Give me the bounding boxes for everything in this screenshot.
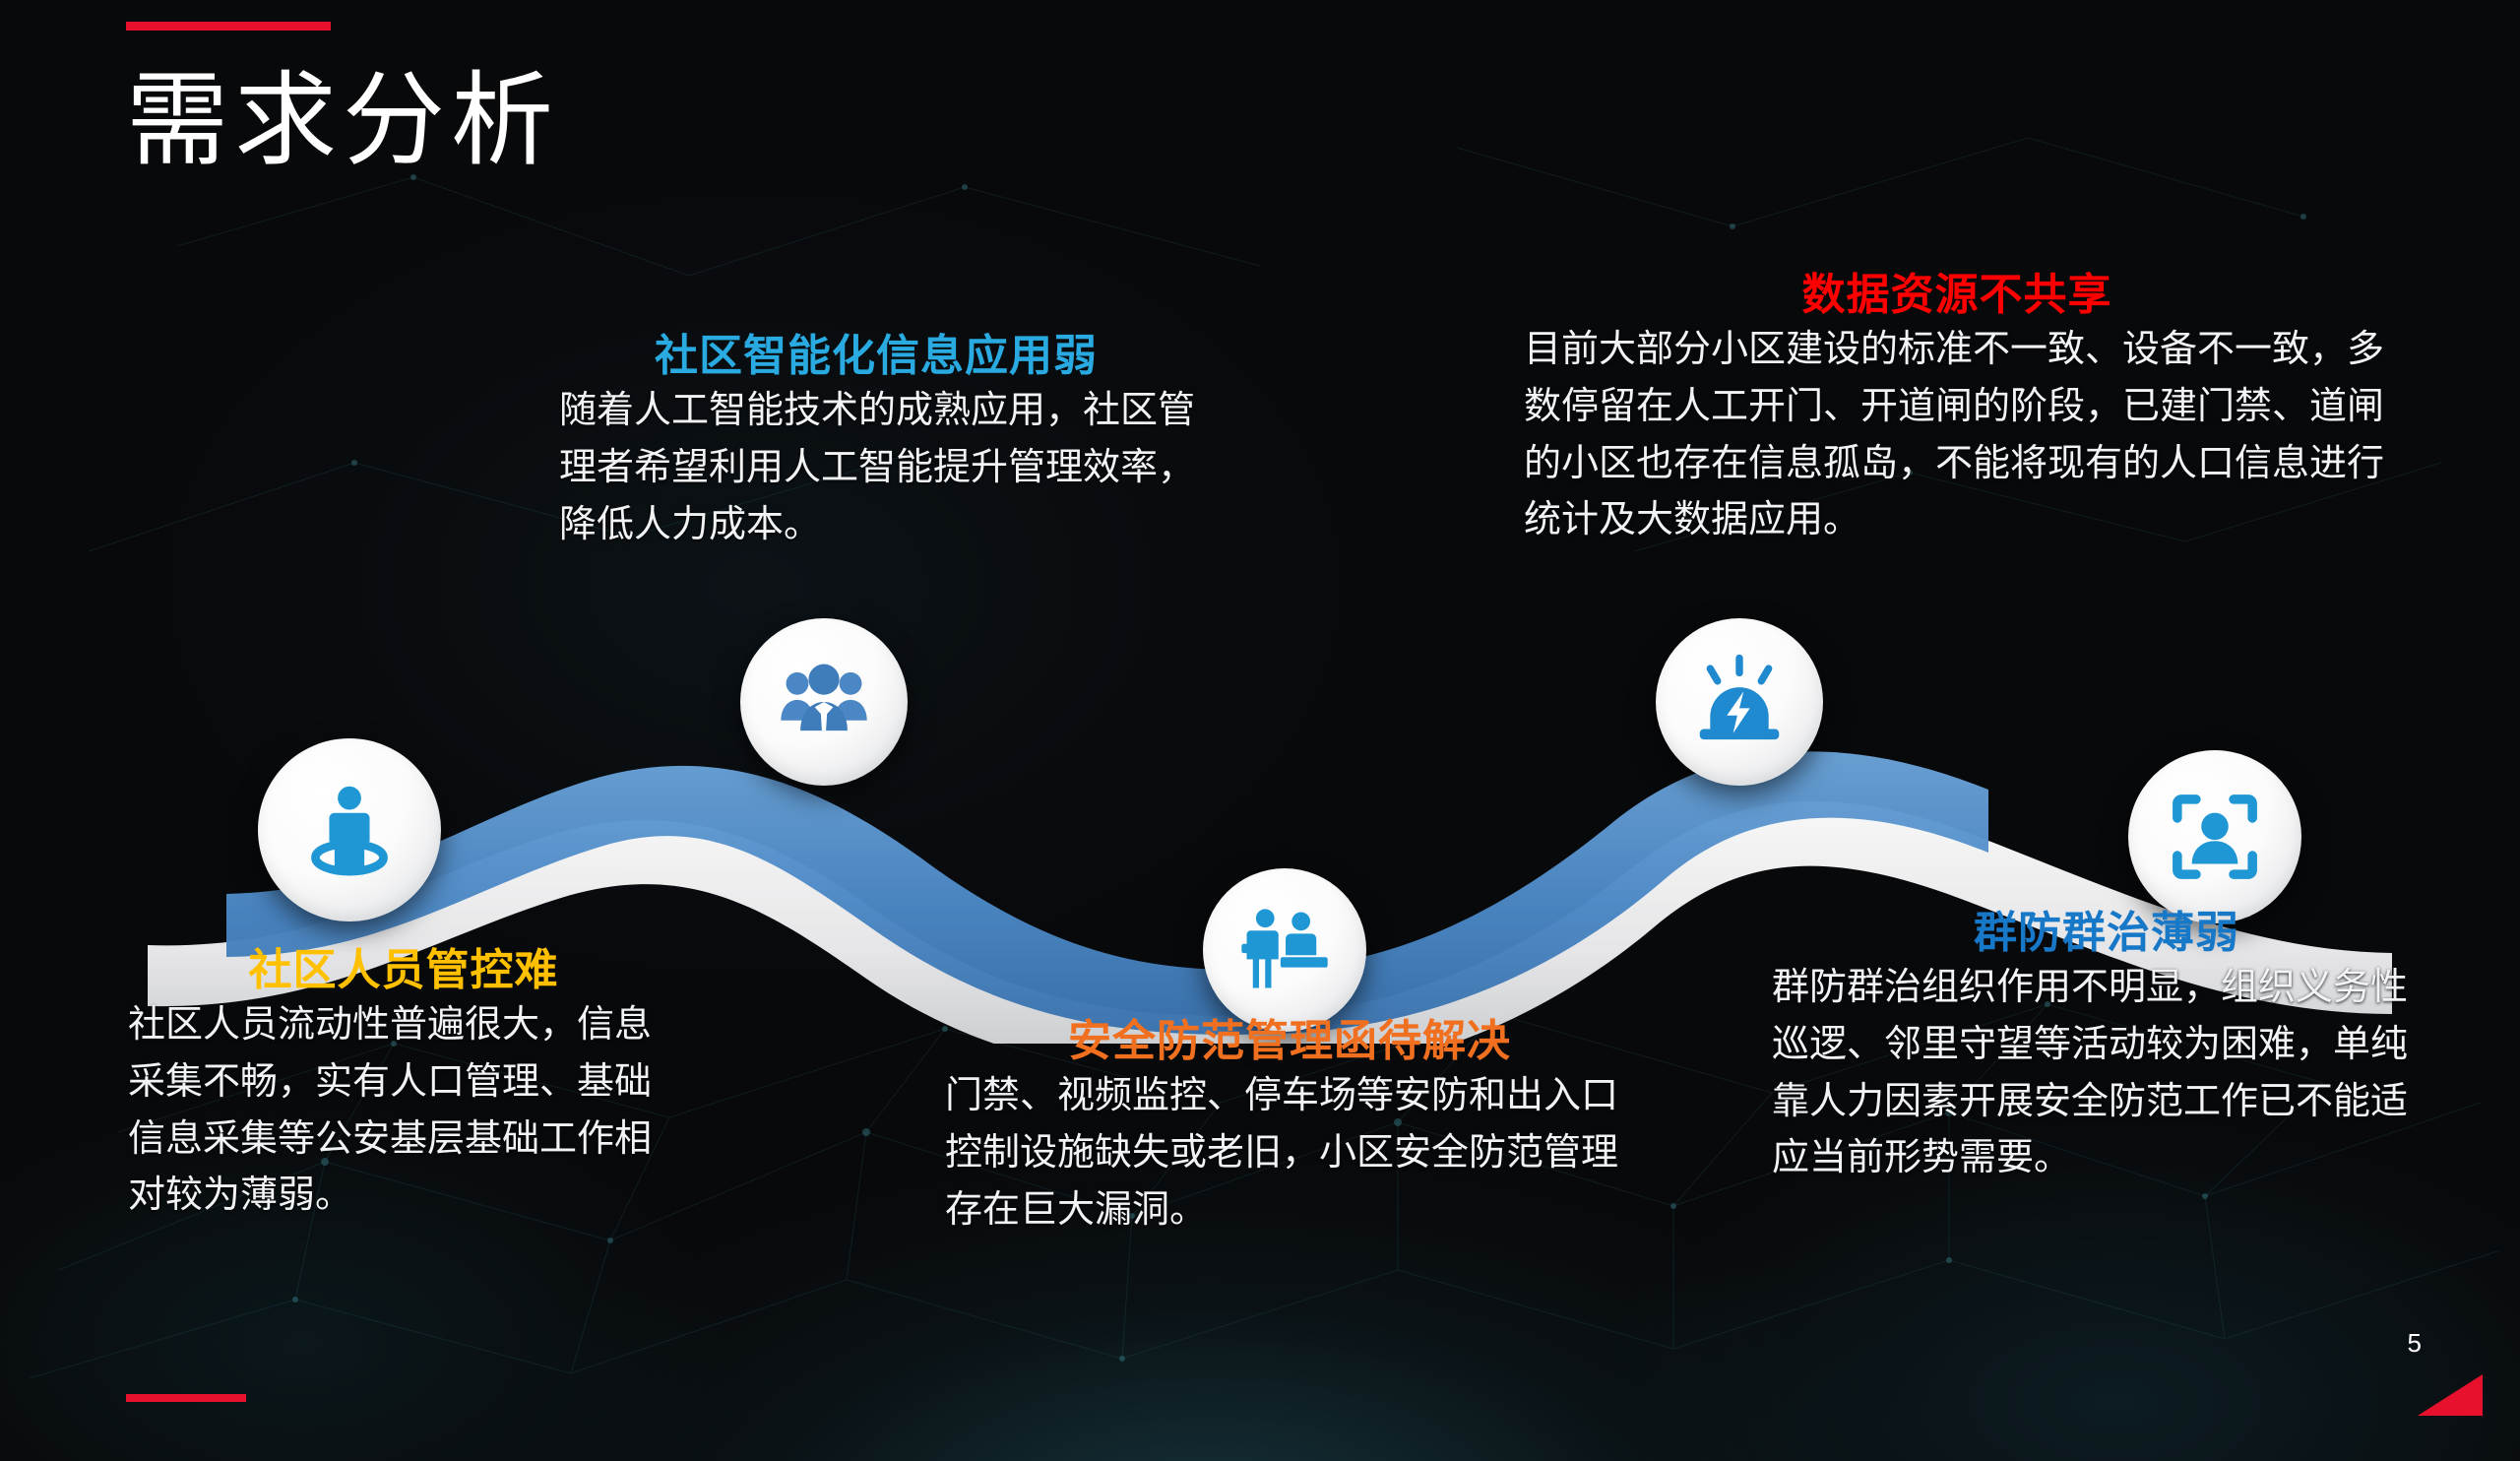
node-face-recognition[interactable] [2128, 750, 2301, 923]
corner-triangle-decoration [2418, 1374, 2483, 1416]
section-body: 门禁、视频监控、停车场等安防和出入口控制设施缺失或老旧，小区安全防范管理存在巨大… [945, 1068, 1634, 1239]
section-data-sharing: 数据资源不共享 目前大部分小区建设的标准不一致、设备不一致，多数停留在人工开门、… [1524, 268, 2390, 549]
section-people-control: 社区人员管控难 社区人员流动性普遍很大，信息采集不畅，实有人口管理、基础信息采集… [128, 943, 679, 1225]
page-number: 5 [2408, 1328, 2422, 1359]
people-group-icon [773, 651, 875, 753]
section-heading: 社区人员管控难 [128, 943, 679, 997]
footer-accent-rule [126, 1394, 246, 1402]
page-title: 需求分析 [126, 67, 559, 177]
section-heading: 社区智能化信息应用弱 [532, 329, 1221, 383]
node-reception-desk[interactable] [1203, 868, 1366, 1032]
background-network-pattern [0, 0, 2520, 1461]
section-group-prevention: 群防群治薄弱 群防群治组织作用不明显，组织义务性巡逻、邻里守望等活动较为困难，单… [1772, 906, 2441, 1187]
section-body: 社区人员流动性普遍很大，信息采集不畅，实有人口管理、基础信息采集等公安基层基础工… [128, 997, 679, 1225]
section-smart-info: 社区智能化信息应用弱 随着人工智能技术的成熟应用，社区管理者希望利用人工智能提升… [532, 329, 1221, 553]
reception-desk-icon [1233, 899, 1336, 1001]
face-recognition-icon [2163, 785, 2267, 889]
section-heading: 群防群治薄弱 [1772, 906, 2441, 960]
slide-canvas: 需求分析 [0, 0, 2520, 1461]
title-accent-rule [126, 22, 331, 31]
section-body: 群防群治组织作用不明显，组织义务性巡逻、邻里守望等活动较为困难，单纯靠人力因素开… [1772, 960, 2441, 1187]
section-body: 随着人工智能技术的成熟应用，社区管理者希望利用人工智能提升管理效率，降低人力成本… [532, 383, 1221, 553]
section-body: 目前大部分小区建设的标准不一致、设备不一致，多数停留在人工开门、开道闸的阶段，已… [1524, 322, 2390, 549]
node-people-group[interactable] [740, 618, 908, 786]
node-alarm-siren[interactable] [1656, 618, 1823, 786]
node-person-location[interactable] [258, 738, 441, 921]
section-heading: 数据资源不共享 [1524, 268, 2390, 322]
alarm-siren-icon [1687, 650, 1792, 754]
section-safety-management: 安全防范管理函待解决 门禁、视频监控、停车场等安防和出入口控制设施缺失或老旧，小… [945, 1014, 1634, 1239]
person-location-icon [296, 777, 403, 883]
section-heading: 安全防范管理函待解决 [945, 1014, 1634, 1068]
